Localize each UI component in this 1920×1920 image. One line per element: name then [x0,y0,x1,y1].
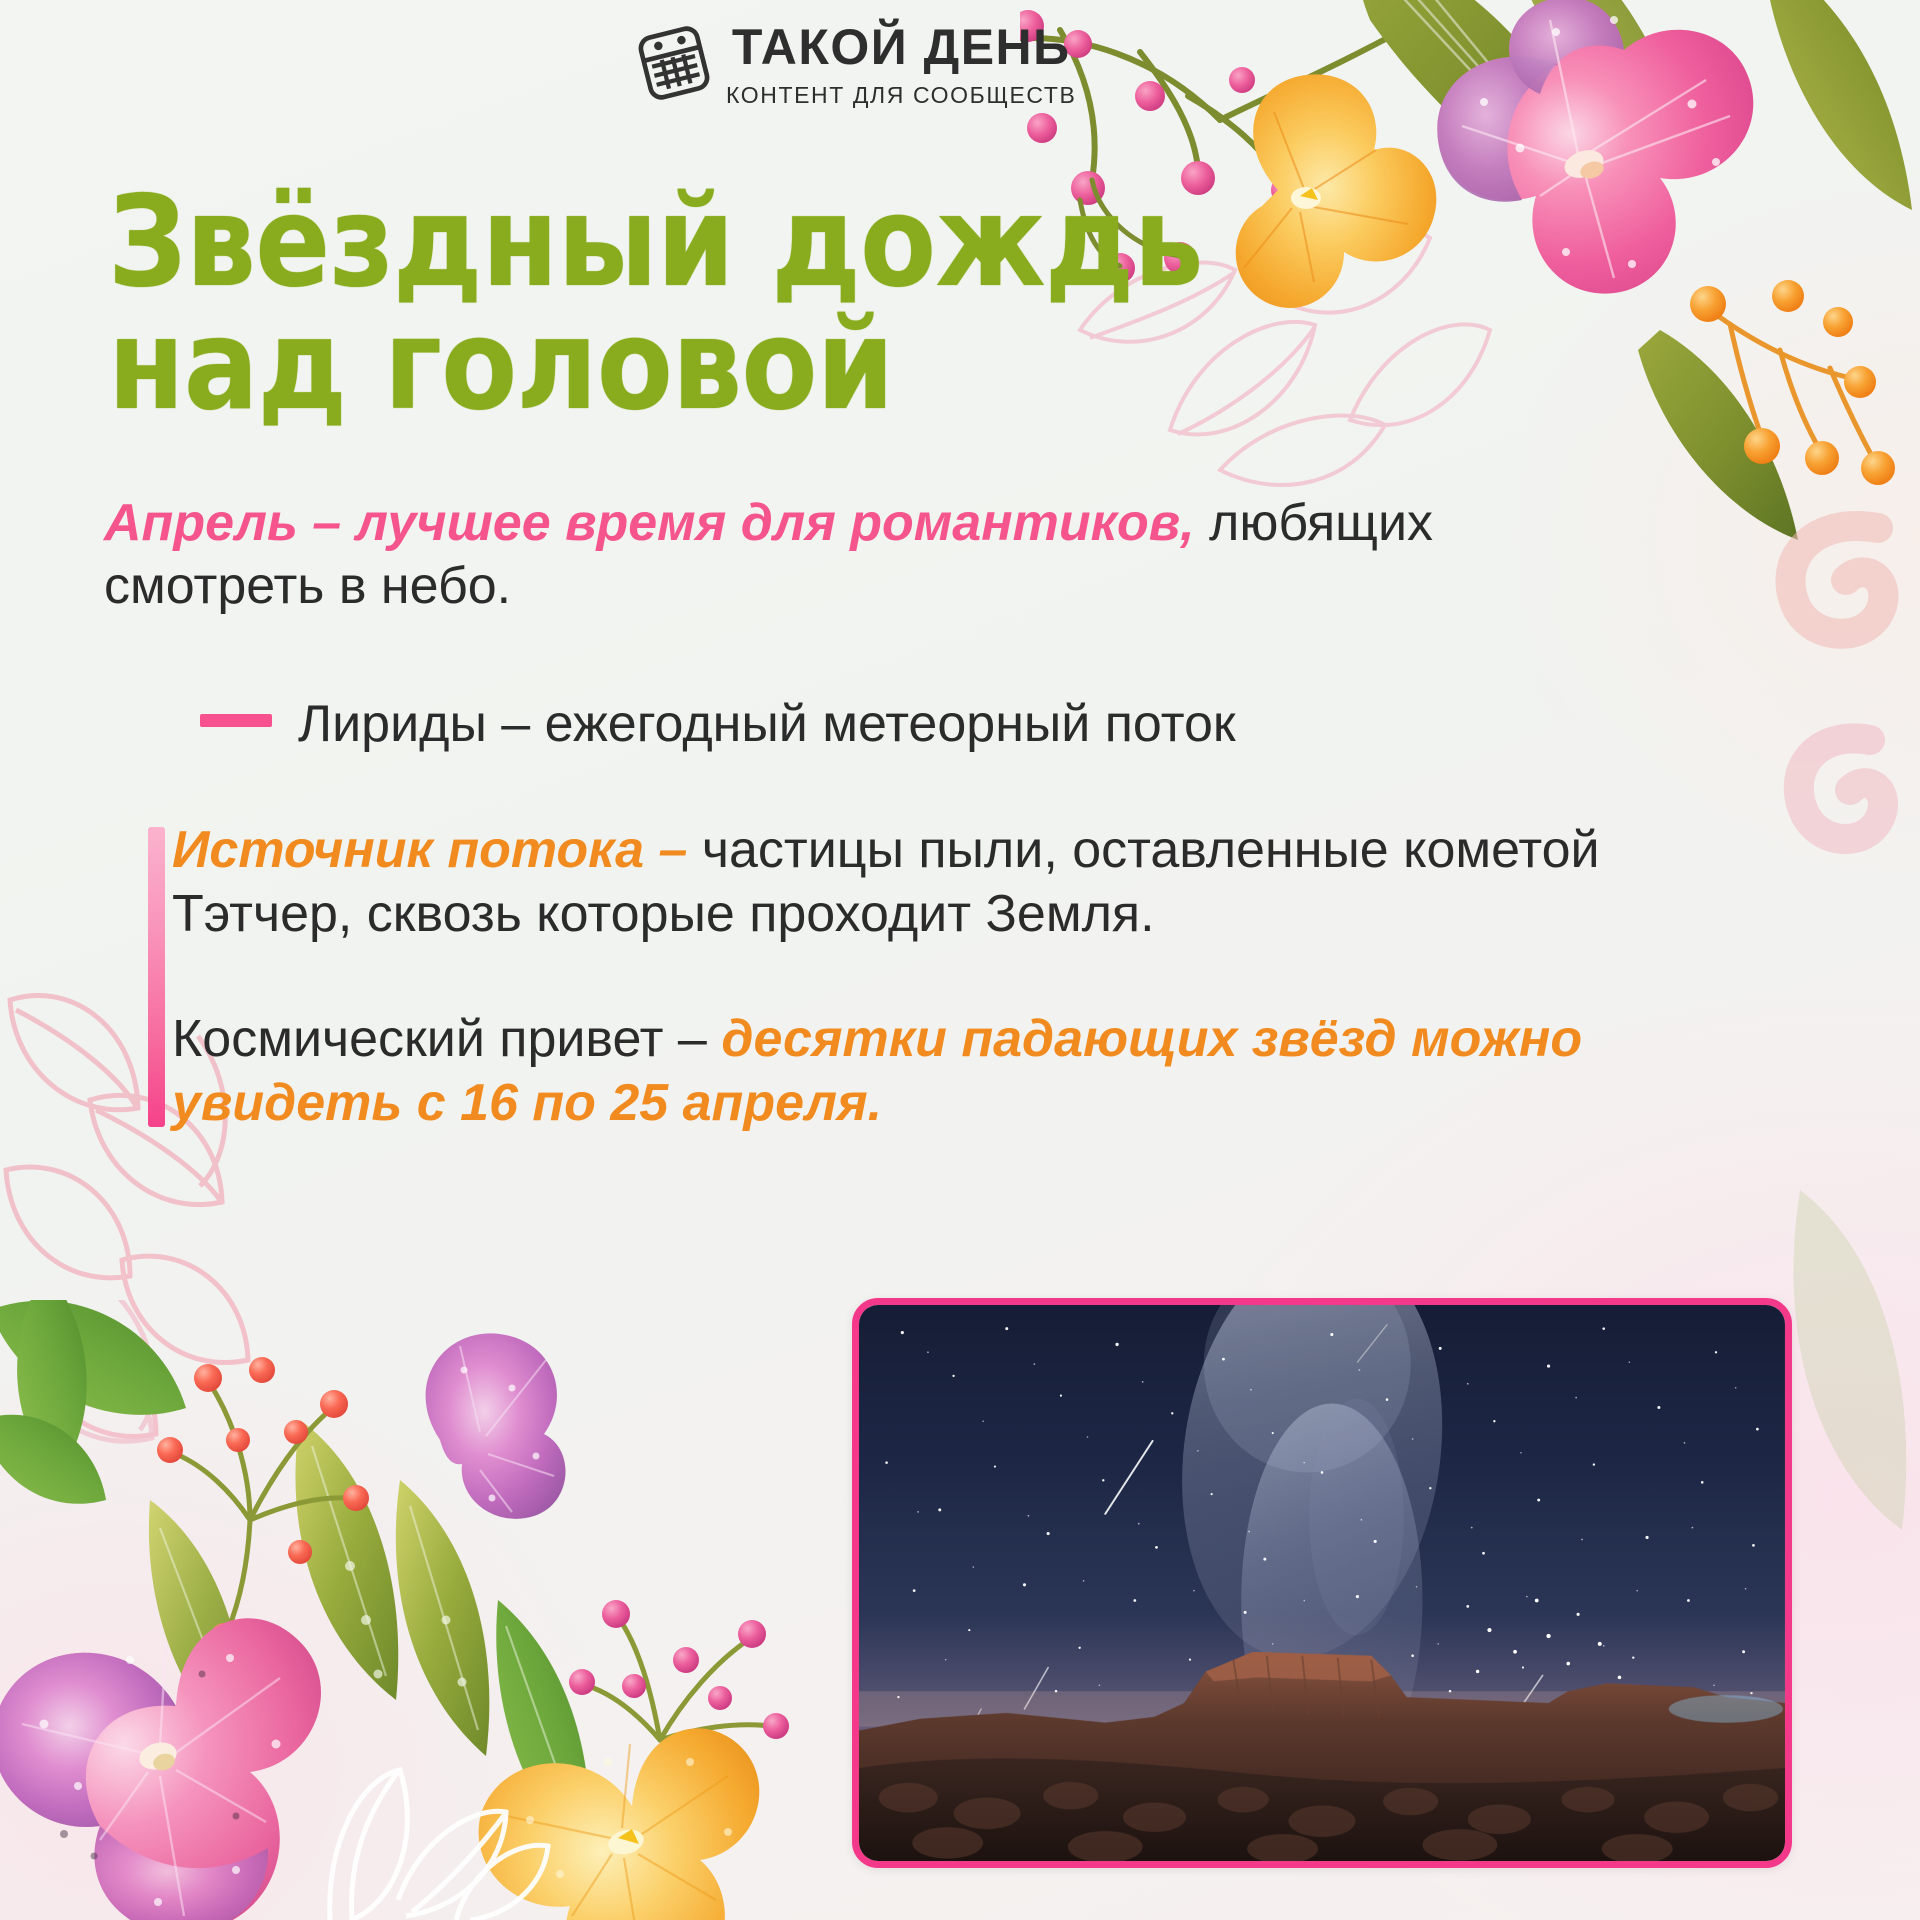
brand-title: ТАКОЙ ДЕНЬ [732,22,1071,73]
bullet-highlight: Лириды – [298,695,530,753]
yellow-pansy-icon [479,1728,760,1920]
leaf-icon [0,1415,106,1504]
watercolor-swirl-decoration-right [1620,420,1920,980]
leaf-icon [295,1420,398,1700]
purple-pink-pansy-icon [0,1618,321,1920]
quote-block: Источник потока – частицы пыли, оставлен… [104,819,1664,1135]
orange-berry-branch-icon [1690,280,1895,485]
lead-highlight: Апрель – лучшее время для романтиков, [104,494,1195,552]
palm-leaf-icon [1350,0,1620,230]
night-sky-meteor-shower-photo [852,1298,1792,1868]
body-copy: Апрель – лучшее время для романтиков, лю… [104,492,1664,1135]
greeting-paragraph: Космический привет – десятки падающих зв… [172,1008,1612,1135]
leaf-icon [396,1480,490,1756]
magenta-berry-branch-icon [569,1600,789,1740]
dash-bullet-icon [200,714,272,727]
leaf-icon [0,1301,186,1415]
leaf-icon [496,1600,590,1860]
headline-line-1: Звёздный дождь [108,180,1203,303]
corner-floral-decoration-bottom-left [0,1300,820,1920]
white-line-art-leaves-icon [330,1770,548,1920]
purple-flower-icon [426,1333,566,1518]
page-title: Звёздный дождь над головой [108,180,1203,427]
lead-paragraph: Апрель – лучшее время для романтиков, лю… [104,492,1584,619]
palm-leaf-icon [1770,0,1912,210]
bullet-text: Лириды – ежегодный метеорный поток [298,693,1236,755]
leaf-icon [149,1500,245,1756]
pink-flower-icon [1437,0,1753,294]
photo-content [859,1305,1785,1867]
pink-accent-bar [148,827,165,1127]
source-paragraph: Источник потока – частицы пыли, оставлен… [172,819,1622,946]
brand-subtitle: КОНТЕНТ ДЛЯ СООБЩЕСТВ [726,82,1076,109]
poster-canvas: ТАКОЙ ДЕНЬ КОНТЕНТ ДЛЯ СООБЩЕСТВ Звёздны… [0,0,1920,1920]
palm-leaf-icon [1520,0,1692,170]
brand-logo: ТАКОЙ ДЕНЬ КОНТЕНТ ДЛЯ СООБЩЕСТВ [640,22,1076,109]
bullet-rest: ежегодный метеорный поток [530,695,1235,753]
yellow-flower-icon [1236,74,1437,308]
greeting-plain: Космический привет – [172,1010,721,1068]
leaf-icon [17,1300,87,1476]
source-highlight: Источник потока – [172,821,687,879]
calendar-icon [633,21,716,105]
headline-line-2: над головой [108,303,1203,426]
coral-berry-branch-icon [157,1357,369,1649]
bullet-item-lyrids: Лириды – ежегодный метеорный поток [104,693,1664,755]
